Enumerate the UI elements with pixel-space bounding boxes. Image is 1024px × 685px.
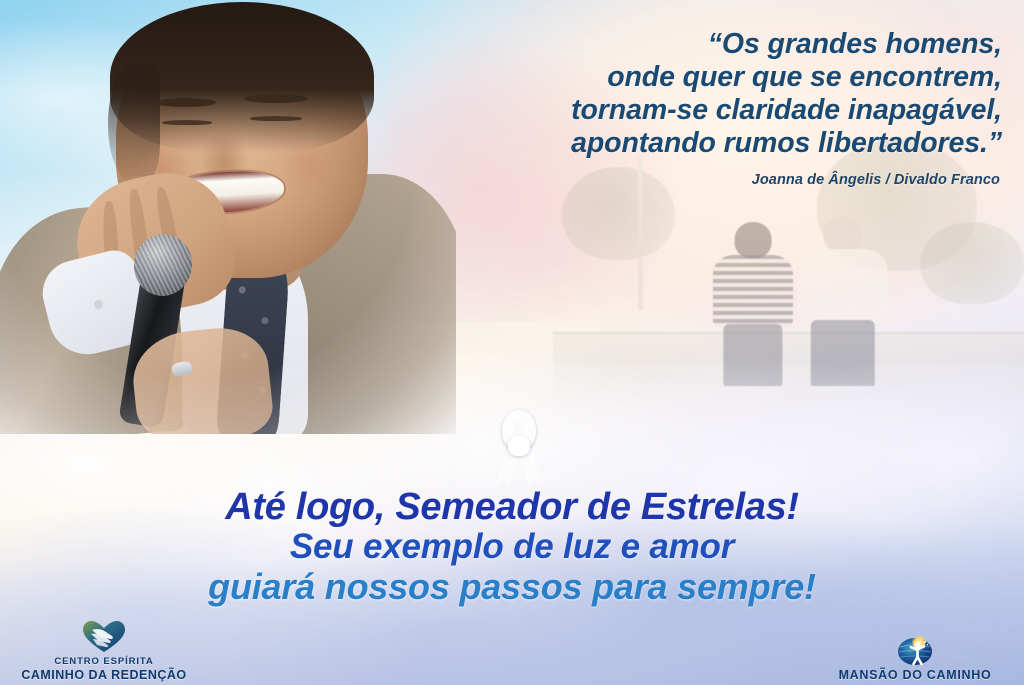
ghost-tree bbox=[920, 222, 1024, 304]
quote-line-2: onde quer que se encontrem, bbox=[462, 61, 1002, 94]
eyebrow-left bbox=[154, 98, 216, 107]
background-photo-ghost bbox=[553, 151, 1024, 425]
quote-line-1: “Os grandes homens, bbox=[462, 28, 1002, 61]
nose bbox=[200, 122, 248, 178]
logo-centro-espirita: CENTRO ESPÍRITA CAMINHO DA REDENÇÃO bbox=[6, 620, 202, 681]
memorial-poster: “Os grandes homens, onde quer que se enc… bbox=[0, 0, 1024, 685]
logo-right-line-1: MANSÃO DO CAMINHO bbox=[812, 669, 1018, 682]
quote-attribution: Joanna de Ângelis / Divaldo Franco bbox=[460, 172, 1000, 188]
quote-line-4: apontando rumos libertadores.” bbox=[462, 127, 1002, 160]
eyebrow-right bbox=[244, 94, 308, 103]
ribbon-knot bbox=[508, 436, 530, 456]
portrait-divaldo-franco bbox=[0, 0, 456, 434]
logo-left-caption: CENTRO ESPÍRITA CAMINHO DA REDENÇÃO bbox=[6, 656, 202, 681]
logo-mansao-do-caminho: MANSÃO DO CAMINHO bbox=[812, 633, 1018, 682]
logo-left-line-2: CAMINHO DA REDENÇÃO bbox=[6, 669, 202, 682]
ghost-person-striped bbox=[713, 222, 793, 386]
headline-line-2: Seu exemplo de luz e amor bbox=[0, 527, 1024, 567]
ghost-person-white bbox=[798, 216, 887, 386]
eye-left bbox=[162, 120, 212, 125]
headline-line-3: guiará nossos passos para sempre! bbox=[0, 567, 1024, 607]
globe-figure-torch-icon bbox=[812, 633, 1018, 667]
quote-block: “Os grandes homens, onde quer que se enc… bbox=[462, 28, 1002, 160]
logo-left-line-1: CENTRO ESPÍRITA bbox=[6, 656, 202, 669]
quote-line-3: tornam-se claridade inapagável, bbox=[462, 94, 1002, 127]
tribute-headline: Até logo, Semeador de Estrelas! Seu exem… bbox=[0, 487, 1024, 607]
cheek-right bbox=[278, 140, 338, 190]
logo-right-caption: MANSÃO DO CAMINHO bbox=[812, 669, 1018, 682]
heart-hands-icon bbox=[6, 620, 202, 654]
cuff-button bbox=[94, 300, 103, 309]
white-ribbon-icon bbox=[488, 410, 550, 486]
headline-line-1: Até logo, Semeador de Estrelas! bbox=[0, 487, 1024, 527]
eye-right bbox=[250, 116, 302, 121]
